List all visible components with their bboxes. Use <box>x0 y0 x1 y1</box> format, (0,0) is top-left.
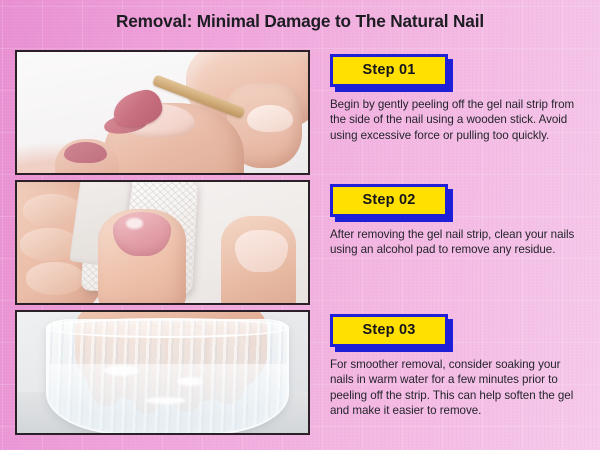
photo2-knuckle-3 <box>26 262 84 295</box>
photo2-right-nail <box>235 230 287 271</box>
photo2-thumb-nail <box>113 212 171 256</box>
step-content-3: Step 03 For smoother removal, consider s… <box>330 310 588 419</box>
step-photo-2 <box>15 180 310 305</box>
steps-list: Step 01 Begin by gently peeling off the … <box>0 50 600 442</box>
step-text-3: For smoother removal, consider soaking y… <box>330 357 582 419</box>
step-badge-1[interactable]: Step 01 <box>330 54 448 87</box>
photo-peeling-gel-strip <box>17 52 308 173</box>
step-row-1: Step 01 Begin by gently peeling off the … <box>0 50 600 180</box>
photo1-lower-nail <box>64 142 108 164</box>
step-badge-wrap-2: Step 02 <box>330 184 448 217</box>
step-row-2: Step 02 After removing the gel nail stri… <box>0 180 600 310</box>
photo3-water-glint-3 <box>145 397 186 404</box>
step-row-3: Step 03 For smoother removal, consider s… <box>0 310 600 442</box>
step-content-1: Step 01 Begin by gently peeling off the … <box>330 50 588 143</box>
step-badge-wrap-1: Step 01 <box>330 54 448 87</box>
step-photo-3 <box>15 310 310 435</box>
step-badge-2[interactable]: Step 02 <box>330 184 448 217</box>
step-badge-3[interactable]: Step 03 <box>330 314 448 347</box>
photo3-bowl-rim <box>46 318 289 338</box>
photo2-knuckle-1 <box>23 194 81 227</box>
page-title: Removal: Minimal Damage to The Natural N… <box>0 11 600 32</box>
photo1-upper-nail <box>247 105 294 132</box>
step-text-1: Begin by gently peeling off the gel nail… <box>330 97 582 143</box>
step-content-2: Step 02 After removing the gel nail stri… <box>330 180 588 258</box>
step-photo-1 <box>15 50 310 175</box>
photo-soaking-in-water <box>17 312 308 433</box>
step-text-2: After removing the gel nail strip, clean… <box>330 227 582 258</box>
step-badge-wrap-3: Step 03 <box>330 314 448 347</box>
photo3-water-glint-2 <box>177 377 203 385</box>
photo-alcohol-pad-cleaning <box>17 182 308 303</box>
infographic-card: Removal: Minimal Damage to The Natural N… <box>0 0 600 450</box>
